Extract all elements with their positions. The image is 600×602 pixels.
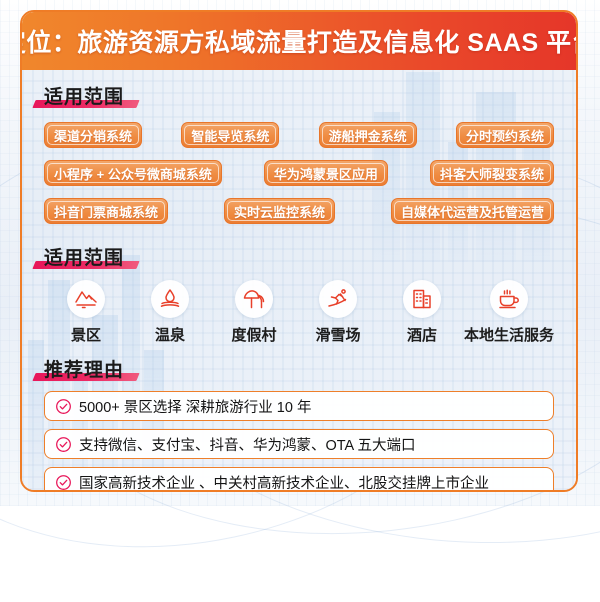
reason-text: 5000+ 景区选择 深耕旅游行业 10 年	[79, 396, 311, 417]
reason-text: 支持微信、支付宝、抖音、华为鸿蒙、OTA 五大端口	[79, 434, 415, 455]
tag-label: 华为鸿蒙景区应用	[274, 164, 378, 183]
poster-card: 定位：旅游资源方私域流量打造及信息化 SAAS 平台 适用范围 渠道分销系统 智…	[20, 10, 578, 492]
skier-icon	[319, 280, 357, 318]
tag-label: 游船押金系统	[329, 126, 407, 145]
tag-label: 抖音门票商城系统	[54, 202, 158, 221]
reason-text: 国家高新技术企业 、中关村高新技术企业、北股交挂牌上市企业	[79, 472, 489, 493]
reason-item[interactable]: 5000+ 景区选择 深耕旅游行业 10 年	[44, 391, 554, 421]
tag-chip[interactable]: 智能导览系统	[181, 122, 279, 148]
tag-chip[interactable]: 华为鸿蒙景区应用	[264, 160, 388, 186]
tag-label: 小程序 + 公众号微商城系统	[54, 164, 212, 183]
tag-chip[interactable]: 小程序 + 公众号微商城系统	[44, 160, 222, 186]
hotel-building-icon	[403, 280, 441, 318]
header-title: 定位：旅游资源方私域流量打造及信息化 SAAS 平台	[20, 23, 578, 59]
tag-chip[interactable]: 实时云监控系统	[224, 198, 335, 224]
tag-label: 渠道分销系统	[54, 126, 132, 145]
coffee-cup-icon	[490, 280, 528, 318]
reason-item[interactable]: 支持微信、支付宝、抖音、华为鸿蒙、OTA 五大端口	[44, 429, 554, 459]
beach-umbrella-icon	[235, 280, 273, 318]
tag-label: 分时预约系统	[466, 126, 544, 145]
industry-label: 温泉	[155, 324, 185, 345]
industry-label: 度假村	[231, 324, 276, 345]
check-circle-icon	[55, 398, 72, 415]
mountain-icon	[67, 280, 105, 318]
poster-root: 定位：旅游资源方私域流量打造及信息化 SAAS 平台 适用范围 渠道分销系统 智…	[0, 0, 600, 506]
tag-chip[interactable]: 游船押金系统	[319, 122, 417, 148]
tag-label: 实时云监控系统	[234, 202, 325, 221]
industry-icon-strip: 景区 温泉	[22, 280, 576, 345]
industry-label: 本地生活服务	[464, 324, 554, 345]
tag-row: 抖音门票商城系统 实时云监控系统 自媒体代运营及托管运营	[22, 195, 576, 227]
industry-item-local-life[interactable]: 本地生活服务	[464, 280, 554, 345]
industry-label: 滑雪场	[315, 324, 360, 345]
poster-header: 定位：旅游资源方私域流量打造及信息化 SAAS 平台	[22, 12, 576, 70]
tag-chip[interactable]: 自媒体代运营及托管运营	[391, 198, 554, 224]
industry-item-hotel[interactable]: 酒店	[380, 280, 464, 345]
tag-chip[interactable]: 抖音门票商城系统	[44, 198, 168, 224]
tag-row: 小程序 + 公众号微商城系统 华为鸿蒙景区应用 抖客大师裂变系统	[22, 157, 576, 189]
reason-list: 5000+ 景区选择 深耕旅游行业 10 年 支持微信、支付宝、抖音、华为鸿蒙、…	[22, 391, 576, 492]
section-heading-reasons-label: 推荐理由	[44, 355, 124, 382]
industry-item-resort[interactable]: 度假村	[212, 280, 296, 345]
poster-body: 适用范围 渠道分销系统 智能导览系统 游船押金系统 分时预约系统 小程序 + 公…	[22, 70, 576, 490]
tag-chip[interactable]: 分时预约系统	[456, 122, 554, 148]
scope-tag-rows: 渠道分销系统 智能导览系统 游船押金系统 分时预约系统 小程序 + 公众号微商城…	[22, 119, 576, 227]
tag-label: 智能导览系统	[191, 126, 269, 145]
reason-item[interactable]: 国家高新技术企业 、中关村高新技术企业、北股交挂牌上市企业	[44, 467, 554, 492]
check-circle-icon	[55, 474, 72, 491]
industry-item-ski[interactable]: 滑雪场	[296, 280, 380, 345]
section-heading-industries: 适用范围	[44, 243, 124, 270]
section-heading-industries-label: 适用范围	[44, 243, 124, 270]
industry-label: 景区	[71, 324, 101, 345]
tag-chip[interactable]: 抖客大师裂变系统	[430, 160, 554, 186]
tag-label: 自媒体代运营及托管运营	[401, 202, 544, 221]
tag-label: 抖客大师裂变系统	[440, 164, 544, 183]
industry-label: 酒店	[407, 324, 437, 345]
check-circle-icon	[55, 436, 72, 453]
section-heading-scope-label: 适用范围	[44, 82, 124, 109]
hot-spring-icon	[151, 280, 189, 318]
tag-row: 渠道分销系统 智能导览系统 游船押金系统 分时预约系统	[22, 119, 576, 151]
section-heading-reasons: 推荐理由	[44, 355, 124, 382]
section-heading-scope: 适用范围	[44, 82, 124, 109]
industry-item-scenic[interactable]: 景区	[44, 280, 128, 345]
tag-chip[interactable]: 渠道分销系统	[44, 122, 142, 148]
industry-item-hotspring[interactable]: 温泉	[128, 280, 212, 345]
